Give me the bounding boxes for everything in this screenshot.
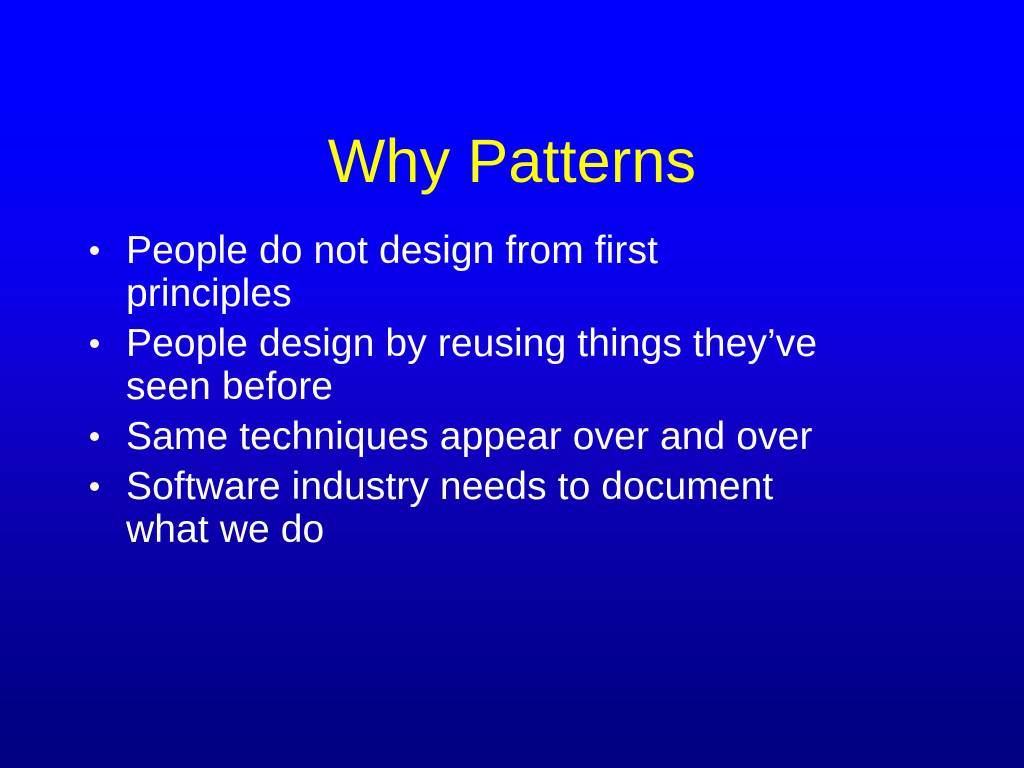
slide-title: Why Patterns [0,129,1024,195]
bullet-line: People design by reusing things they’ve [126,322,944,365]
bullet-line: Same techniques appear over and over [126,415,944,458]
bullet-dot-icon [90,482,99,491]
bullet-item: Same techniques appear over and over [82,415,944,458]
bullet-line: what we do [126,508,944,551]
bullet-dot-icon [90,246,99,255]
bullet-line: principles [126,272,944,315]
bullet-line: Software industry needs to document [126,465,944,508]
bullet-item: Software industry needs to document what… [82,465,944,551]
bullet-dot-icon [90,339,99,348]
bullet-item: People design by reusing things they’ve … [82,322,944,408]
bullet-line: seen before [126,365,944,408]
bullet-dot-icon [90,432,99,441]
bullet-line: People do not design from first [126,229,944,272]
slide-bullet-list: People do not design from first principl… [82,229,944,551]
presentation-slide: Why Patterns People do not design from f… [0,0,1024,768]
bullet-item: People do not design from first principl… [82,229,944,315]
